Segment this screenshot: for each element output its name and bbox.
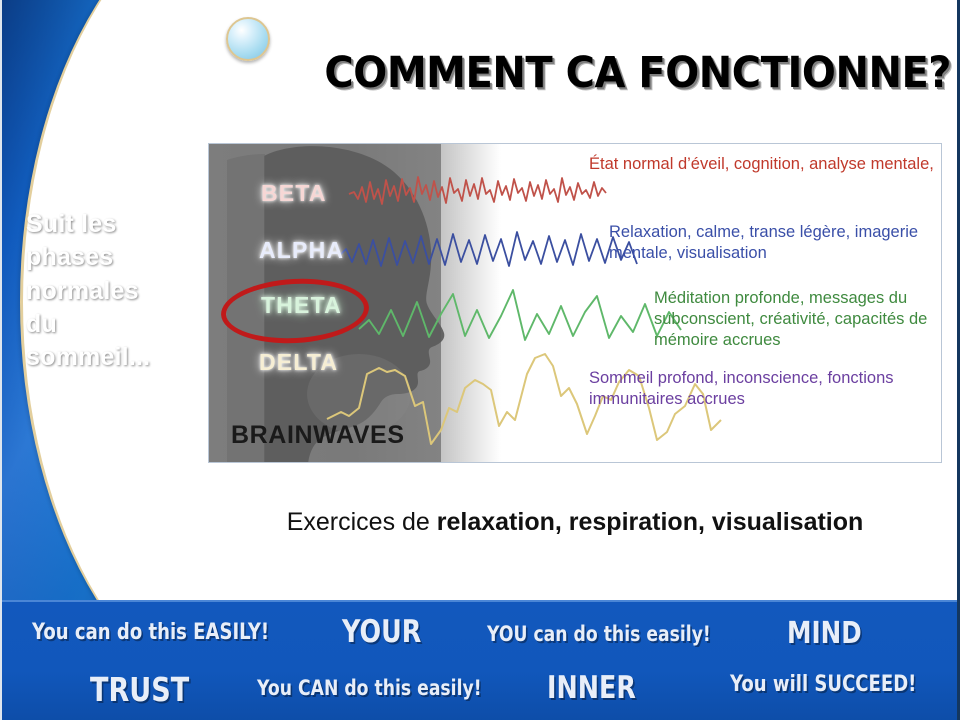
sidebar-line-2: phases: [26, 241, 206, 274]
band-description-theta: Méditation profonde, messages du subcons…: [654, 288, 941, 351]
beta-waveform: [349, 177, 606, 204]
affirmation-8: You will SUCCEED!: [730, 672, 916, 697]
affirmations-banner: You can do this EASILY! YOUR YOU can do …: [2, 600, 960, 720]
subtitle-line: Exercices de relaxation, respiration, vi…: [208, 508, 942, 537]
subtitle-regular: Exercices de: [287, 508, 437, 536]
page-title: COMMENT CA FONCTIONNE?: [324, 48, 919, 98]
affirmation-6: You CAN do this easily!: [257, 676, 482, 700]
band-description-beta: État normal d’éveil, cognition, analyse …: [589, 154, 939, 175]
alpha-waveform: [339, 232, 637, 266]
affirmation-2: YOUR: [342, 614, 421, 650]
affirmation-5: TRUST: [90, 670, 189, 709]
sidebar-caption: Suit les phases normales du sommeil...: [26, 208, 206, 374]
theta-waveform: [359, 290, 681, 340]
affirmation-4: MIND: [787, 616, 862, 651]
band-description-delta: Sommeil profond, inconscience, fonctions…: [589, 368, 939, 410]
band-label-beta: BETA: [261, 180, 327, 207]
brainwaves-figure: BETA ALPHA THETA DELTA BRAINWAVES État n…: [208, 143, 942, 463]
subtitle-bold: relaxation, respiration, visualisation: [437, 508, 864, 536]
band-label-alpha: ALPHA: [259, 237, 344, 264]
figure-caption: BRAINWAVES: [231, 421, 405, 450]
sidebar-line-4: du: [26, 308, 206, 341]
affirmation-7: INNER: [547, 670, 636, 706]
affirmation-1: You can do this EASILY!: [32, 620, 269, 645]
affirmation-3: YOU can do this easily!: [487, 622, 711, 646]
band-label-delta: DELTA: [259, 349, 338, 376]
band-description-alpha: Relaxation, calme, transe légère, imager…: [609, 222, 941, 264]
sidebar-line-5: sommeil...: [26, 341, 206, 374]
slide-canvas: Suit les phases normales du sommeil... C…: [0, 0, 960, 720]
sidebar-line-3: normales: [26, 275, 206, 308]
sphere-bead-icon: [226, 17, 270, 61]
sidebar-line-1: Suit les: [26, 208, 206, 241]
